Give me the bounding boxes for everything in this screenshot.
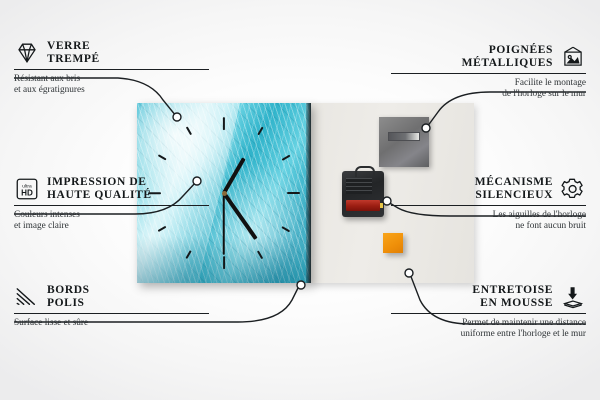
polished-edges-icon: [14, 285, 40, 309]
feature-title-line2: SILENCIEUX: [475, 189, 553, 202]
movement-hook: [355, 166, 375, 177]
feature-divider: [391, 73, 586, 74]
hanger-slot: [388, 132, 420, 141]
feature-poignees-metalliques: POIGNÉES MÉTALLIQUES Facilite le montage…: [391, 44, 586, 101]
ultra-hd-icon: ultra HD: [14, 177, 40, 201]
foam-spacer-arrow-icon: [560, 285, 586, 309]
feature-divider: [391, 313, 586, 314]
movement-vents: [346, 178, 372, 194]
feature-bords-polis: BORDS POLIS Surface lisse et sûre: [14, 284, 209, 329]
feature-title-line1: POIGNÉES: [462, 44, 553, 57]
gear-icon: [560, 177, 586, 201]
metal-hanger-plate-inset: [379, 117, 429, 167]
feature-subtitle-line1: Surface lisse et sûre: [14, 318, 209, 329]
feature-title-line1: IMPRESSION DE: [47, 176, 152, 189]
feature-subtitle-line2: ne font aucun bruit: [391, 221, 586, 232]
feature-entretoise-en-mousse: ENTRETOISE EN MOUSSE Permet de maintenir…: [391, 284, 586, 341]
feature-subtitle-line1: Facilite le montage: [391, 78, 586, 89]
feature-verre-trempe: VERRE TREMPÉ Résistant aux bris et aux é…: [14, 40, 209, 97]
feature-subtitle-line2: de l'horloge sur le mur: [391, 89, 586, 100]
infographic-canvas: VERRE TREMPÉ Résistant aux bris et aux é…: [0, 0, 600, 400]
feature-title-line1: MÉCANISME: [475, 176, 553, 189]
feature-subtitle-line1: Résistant aux bris: [14, 74, 209, 85]
feature-subtitle-line1: Les aiguilles de l'horloge: [391, 210, 586, 221]
feature-subtitle-line2: et aux égratignures: [14, 85, 209, 96]
diamond-icon: [14, 41, 40, 65]
feature-divider: [14, 313, 209, 314]
feature-title-line2: MÉTALLIQUES: [462, 57, 553, 70]
feature-title-line1: BORDS: [47, 284, 90, 297]
second-hand: [223, 193, 225, 255]
clock-center-pin: [222, 191, 227, 196]
feature-title-line2: TREMPÉ: [47, 53, 100, 66]
feature-mecanisme-silencieux: MÉCANISME SILENCIEUX Les aiguilles de l'…: [391, 176, 586, 233]
feature-divider: [14, 205, 209, 206]
feature-title-line2: POLIS: [47, 297, 90, 310]
tick-mark: [223, 256, 225, 269]
feature-subtitle-line1: Couleurs intenses: [14, 210, 209, 221]
feature-divider: [391, 205, 586, 206]
picture-frame-hanger-icon: [560, 45, 586, 69]
tick-mark: [287, 192, 300, 194]
tick-mark: [223, 117, 225, 130]
aa-battery: [346, 200, 380, 211]
svg-text:HD: HD: [21, 189, 33, 198]
feature-subtitle-line1: Permet de maintenir une distance: [391, 318, 586, 329]
feature-title-line2: EN MOUSSE: [472, 297, 553, 310]
foam-spacer-inset: [383, 233, 403, 253]
feature-title-line1: ENTRETOISE: [472, 284, 553, 297]
feature-subtitle-line2: uniforme entre l'horloge et le mur: [391, 329, 586, 340]
feature-subtitle-line2: et image claire: [14, 221, 209, 232]
feature-title-line1: VERRE: [47, 40, 100, 53]
feature-impression-haute-qualite: ultra HD IMPRESSION DE HAUTE QUALITÉ Cou…: [14, 176, 209, 233]
feature-title-line2: HAUTE QUALITÉ: [47, 189, 152, 202]
feature-divider: [14, 69, 209, 70]
clock-side-edge: [306, 103, 311, 283]
clock-movement-inset: [342, 171, 384, 217]
